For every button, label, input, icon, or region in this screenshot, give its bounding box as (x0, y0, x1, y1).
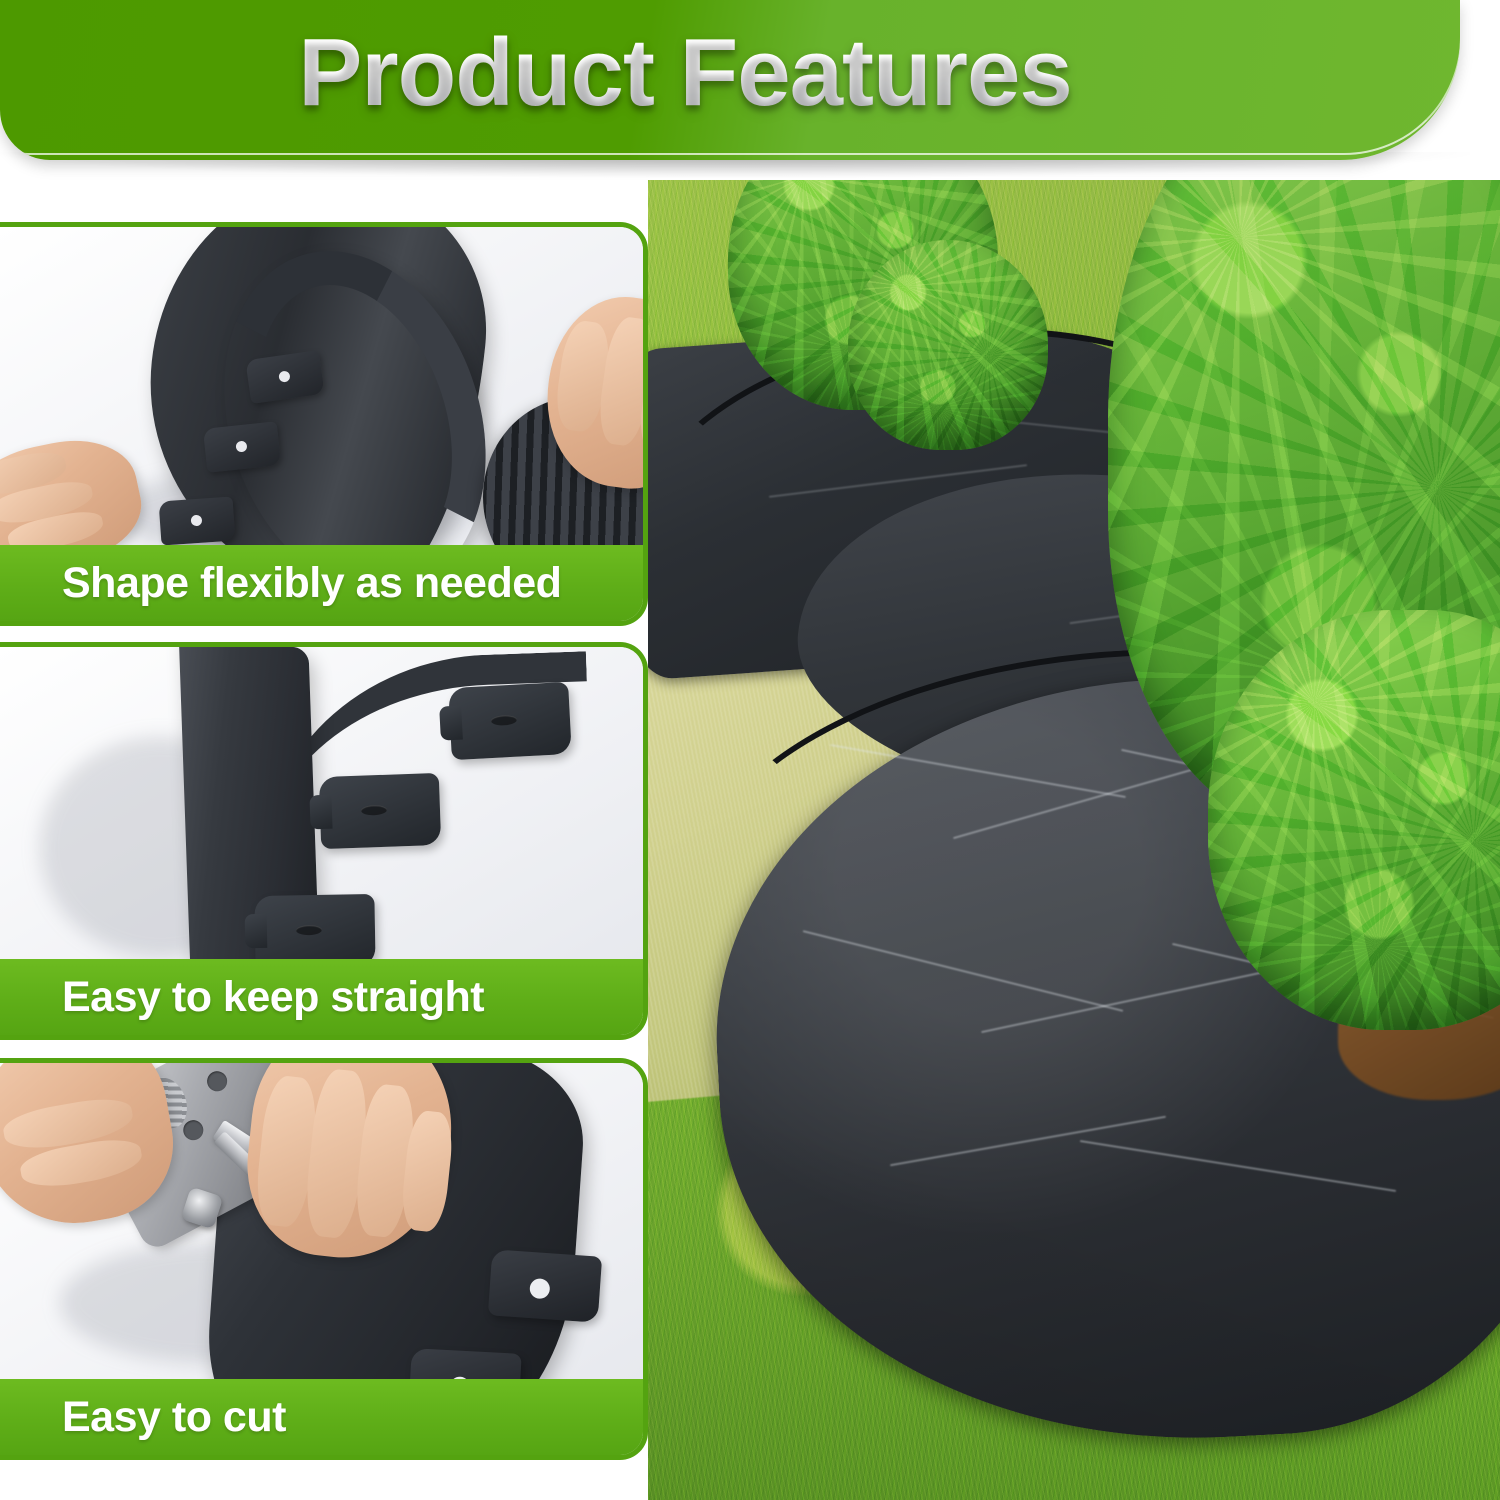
feature-card-keep-straight: Easy to keep straight (0, 642, 648, 1040)
feature-caption-label-2: Easy to keep straight (0, 973, 484, 1022)
feature-card-shape-flexibly: Shape flexibly as needed (0, 222, 648, 626)
feature-photo-keep-straight (0, 647, 643, 959)
shears-lightening-hole (204, 1068, 231, 1095)
stake-tab (408, 1348, 521, 1379)
infographic-canvas: Shape flexibly as needed Easy to keep st… (0, 0, 1500, 1500)
stake-tab (448, 682, 572, 760)
hero-garden-photo (648, 180, 1500, 1500)
feature-caption-label-1: Shape flexibly as needed (0, 559, 561, 608)
feature-panel-column: Shape flexibly as needed Easy to keep st… (0, 180, 650, 1500)
conifer-shrub-small (848, 240, 1048, 450)
left-hand (0, 428, 151, 545)
feature-caption-band-2: Easy to keep straight (0, 959, 643, 1035)
feature-photo-easy-to-cut (0, 1063, 643, 1379)
feature-caption-label-3: Easy to cut (0, 1393, 286, 1442)
stake-tab (319, 773, 441, 849)
feature-caption-band-3: Easy to cut (0, 1379, 643, 1455)
stake-tab (254, 894, 375, 959)
needle-texture (848, 240, 1048, 450)
page-title: Product Features (0, 18, 1460, 128)
stake-tab (203, 421, 281, 472)
feature-caption-band-1: Shape flexibly as needed (0, 545, 643, 621)
header-banner: Product Features (0, 0, 1460, 160)
stake-tab (159, 496, 236, 545)
feature-card-easy-to-cut: Easy to cut (0, 1058, 648, 1460)
feature-photo-shape-flexibly (0, 227, 643, 545)
stake-tab (488, 1249, 602, 1323)
